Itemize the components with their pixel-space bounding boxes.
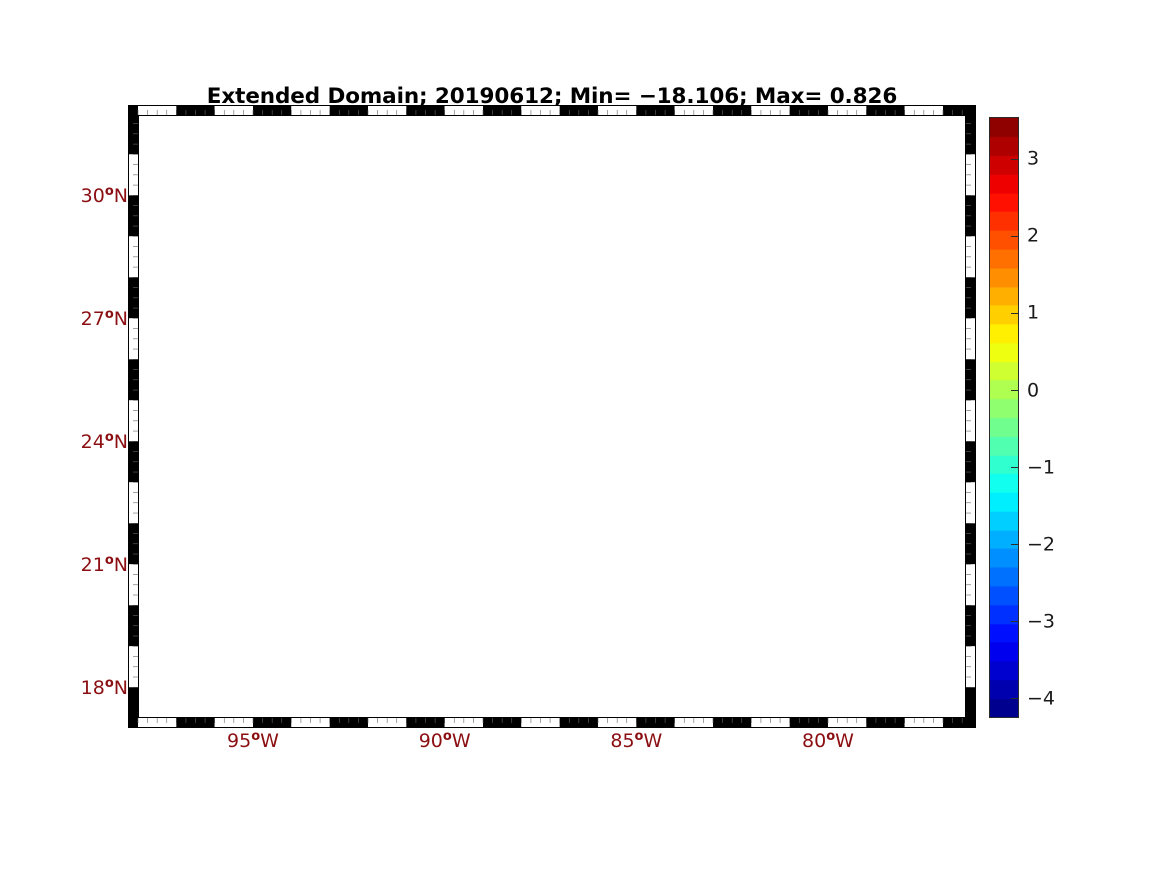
lat-tick-label: 18oN: [81, 677, 128, 698]
colorbar-gradient: [989, 117, 1019, 718]
lat-tick-label: 27oN: [81, 308, 128, 329]
colorbar[interactable]: [989, 117, 1019, 718]
lat-tick-label: 24oN: [81, 431, 128, 452]
map-field-container: [138, 115, 966, 718]
figure-canvas: Extended Domain; 20190612; Min= −18.106;…: [0, 0, 1167, 875]
colorbar-tick-label: 3: [1027, 150, 1039, 169]
map-axes[interactable]: [138, 115, 966, 718]
colorbar-tick-label: 0: [1027, 381, 1039, 400]
lon-tick-label: 80oW: [802, 730, 854, 751]
lat-tick-label: 21oN: [81, 554, 128, 575]
page-title: Extended Domain; 20190612; Min= −18.106;…: [138, 84, 966, 109]
latitude-axis-labels: 18oN21oN24oN27oN30oN: [0, 115, 128, 718]
colorbar-tick-label: −1: [1027, 458, 1055, 477]
lon-tick-label: 95oW: [227, 730, 279, 751]
colorbar-tick-label: 1: [1027, 304, 1039, 323]
lon-tick-label: 90oW: [419, 730, 471, 751]
colorbar-tick-label: 2: [1027, 227, 1039, 246]
colorbar-tick-label: −2: [1027, 535, 1055, 554]
lat-tick-label: 30oN: [81, 185, 128, 206]
longitude-axis-labels: 95oW90oW85oW80oW: [138, 730, 966, 760]
lon-tick-label: 85oW: [610, 730, 662, 751]
heatmap-field: [138, 115, 966, 718]
colorbar-tick-label: −3: [1027, 612, 1055, 631]
colorbar-tick-label: −4: [1027, 689, 1055, 708]
